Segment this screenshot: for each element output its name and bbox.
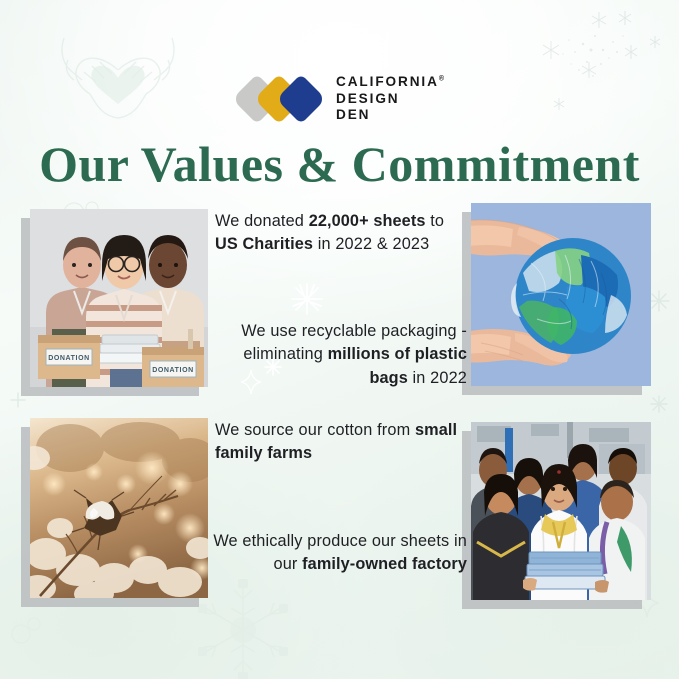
statement-donated: We donated 22,000+ sheets to US Charitie… [215,210,467,257]
statement-cotton-sourcing: We source our cotton from small family f… [215,419,467,466]
statement-text-plain: to [426,212,445,230]
svg-text:DONATION: DONATION [152,367,194,374]
statement-text-plain: in 2022 & 2023 [313,235,429,253]
statement-text-plain: in 2022 [408,369,467,387]
photo-donation-volunteers: DONATION DONATION [30,209,208,387]
statement-text-bold: US Charities [215,235,313,253]
statement-text-plain: We source our cotton from [215,421,415,439]
statement-ethical-production: We ethically produce our sheets in our f… [205,530,467,577]
values-commitment-infographic: CALIFORNIA® DESIGN DEN Our Values & Comm… [0,0,679,679]
photo-plastic-globe [471,203,651,386]
brand-line-3: DEN [336,107,444,124]
brand-name: CALIFORNIA® DESIGN DEN [336,74,444,124]
brand-line-2: DESIGN [336,91,444,108]
photo-factory-workers [471,422,651,600]
brand-line-1: CALIFORNIA [336,74,439,89]
chevron-logo-mark-icon [235,74,323,124]
photo-image [471,203,651,386]
small-sparkle-icon [648,290,670,312]
small-sparkle-icon [650,395,668,413]
svg-text:DONATION: DONATION [48,355,90,362]
bubble-decor-icon [8,612,44,648]
photo-image [471,422,651,600]
registered-mark: ® [439,76,444,83]
statement-text-bold: family-owned factory [302,555,467,573]
statement-text-plain: We donated [215,212,309,230]
statement-text-bold: 22,000+ sheets [309,212,426,230]
page-title: Our Values & Commitment [0,139,679,189]
statement-recyclable-packaging: We use recyclable packaging - eliminatin… [205,320,467,390]
photo-cotton-field [30,418,208,598]
photo-image [30,418,208,598]
starburst-sparkle-icon [290,282,324,316]
brand-logo: CALIFORNIA® DESIGN DEN [0,74,679,124]
photo-image: DONATION DONATION [30,209,208,387]
